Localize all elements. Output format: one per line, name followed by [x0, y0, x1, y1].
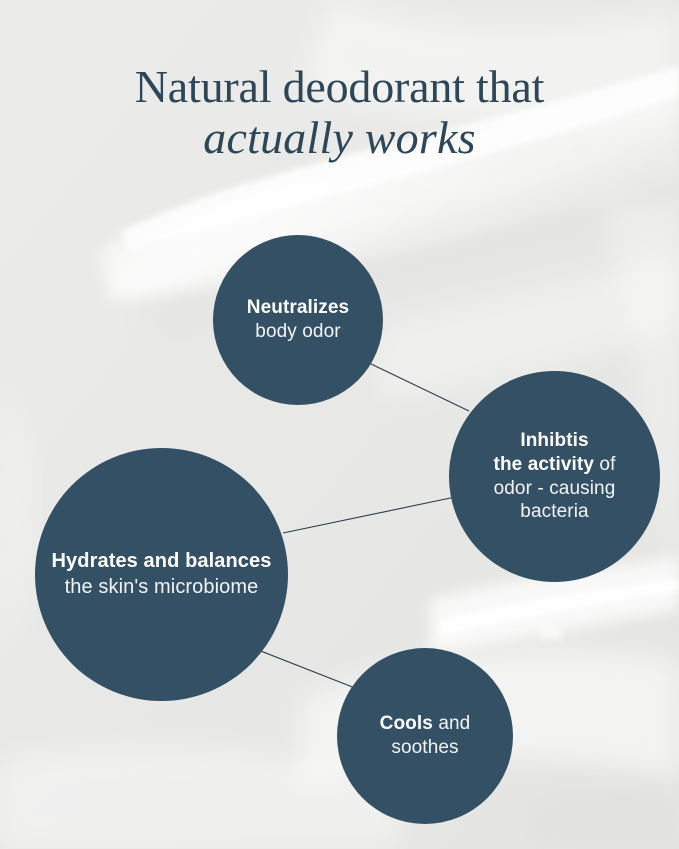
bubble-inhibits-regular-line4: bacteria [520, 501, 588, 522]
bubble-hydrates-bold: Hydrates and balances [52, 550, 272, 572]
connector-neutralizes-to-inhibits [369, 363, 469, 411]
bubble-inhibits-bold-line2: the activity [494, 454, 594, 475]
connector-inhibits-to-hydrates [283, 496, 460, 533]
infographic-canvas: Natural deodorant that actually works Ne… [0, 0, 679, 849]
bubble-neutralizes[interactable]: Neutralizes body odor [213, 235, 383, 405]
bubble-hydrates-regular: the skin's microbiome [65, 576, 259, 598]
bubble-inhibits-regular-line2: of [599, 454, 615, 475]
bubble-inhibits[interactable]: Inhibtis the activity of odor - causing … [449, 371, 660, 582]
bubble-cools-text: Cools and soothes [337, 712, 513, 760]
bubble-neutralizes-regular: body odor [255, 321, 340, 342]
bubble-cools[interactable]: Cools and soothes [337, 648, 513, 824]
bubble-neutralizes-bold: Neutralizes [247, 297, 349, 318]
connector-hydrates-to-cools [253, 648, 355, 688]
bubble-hydrates-text: Hydrates and balances the skin's microbi… [35, 549, 288, 599]
bubble-hydrates[interactable]: Hydrates and balances the skin's microbi… [35, 448, 288, 701]
bubble-neutralizes-text: Neutralizes body odor [237, 296, 359, 344]
bubble-inhibits-regular-line3: odor - causing [494, 478, 616, 499]
bubble-cools-bold: Cools [380, 713, 433, 734]
bubble-inhibits-bold-line1: Inhibtis [520, 430, 588, 451]
bubble-inhibits-text: Inhibtis the activity of odor - causing … [484, 429, 626, 525]
